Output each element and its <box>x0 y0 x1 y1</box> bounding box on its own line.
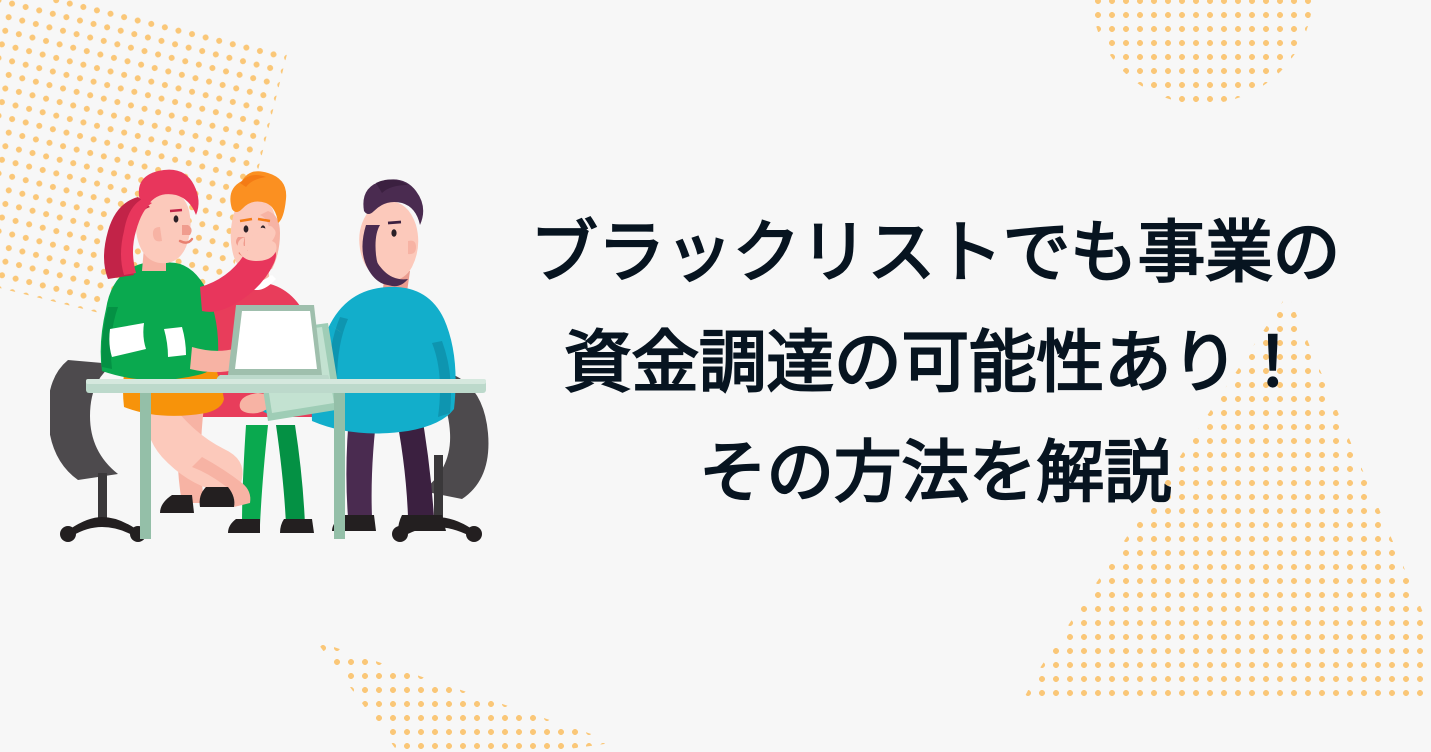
headline-line-3: その方法を解説 <box>520 418 1350 528</box>
headline-line-1: ブラックリストでも事業の <box>520 198 1350 308</box>
headline-line-2: 資金調達の可能性あり！ <box>520 308 1350 418</box>
meeting-illustration <box>50 155 520 570</box>
page-title: ブラックリストでも事業の 資金調達の可能性あり！ その方法を解説 <box>520 198 1350 528</box>
dot-pattern-circle-icon <box>1091 0 1313 104</box>
blog-thumbnail-banner: ブラックリストでも事業の 資金調達の可能性あり！ その方法を解説 <box>0 0 1431 752</box>
dot-pattern-triangle-bottom-icon <box>316 641 616 752</box>
